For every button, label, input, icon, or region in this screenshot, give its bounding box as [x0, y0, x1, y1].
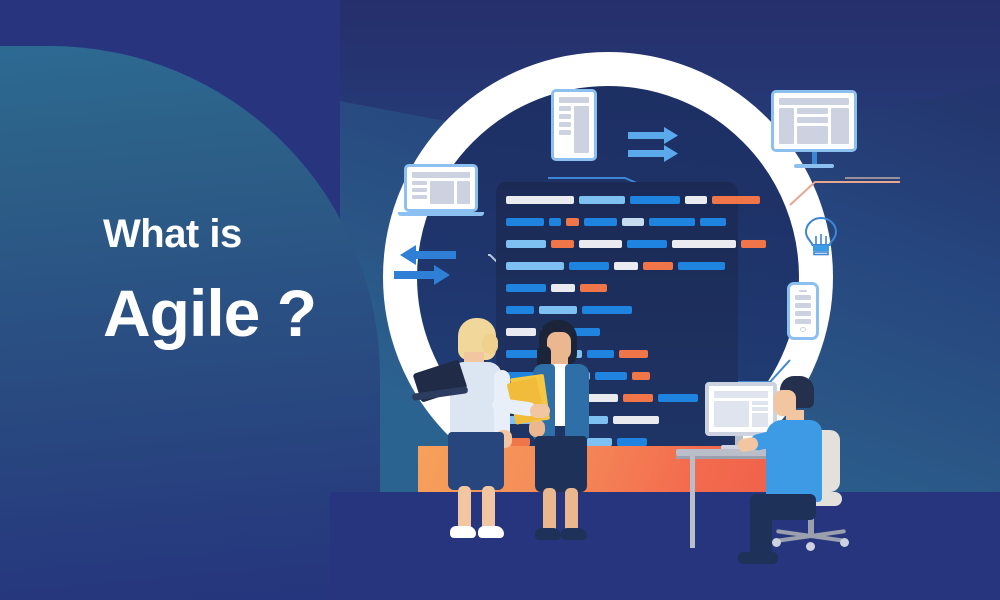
code-token	[506, 262, 564, 270]
code-token	[700, 218, 726, 226]
code-token	[627, 240, 667, 248]
woman2-jacket-r	[565, 364, 589, 440]
reaching-arm	[492, 400, 552, 440]
woman1-skirt	[448, 432, 504, 490]
woman1-shoe-l	[450, 526, 476, 538]
desk-leg	[690, 456, 695, 548]
code-token	[569, 262, 609, 270]
man-at-desk	[744, 376, 839, 566]
code-token	[582, 306, 632, 314]
exchange-arrows-icon	[628, 126, 684, 166]
woman2-skirt	[535, 436, 587, 492]
code-token	[580, 284, 607, 292]
code-line	[506, 284, 607, 292]
code-token	[506, 196, 574, 204]
woman1-bun	[482, 334, 498, 354]
code-token	[549, 218, 561, 226]
stage-floor-navy	[330, 492, 1000, 600]
code-token	[539, 306, 577, 314]
exchange-arrows-left-icon	[394, 244, 456, 290]
code-token	[649, 218, 695, 226]
code-token	[643, 262, 673, 270]
code-token	[741, 240, 766, 248]
code-token	[506, 240, 546, 248]
headline-line-1: What is	[103, 214, 316, 254]
code-token	[658, 394, 698, 402]
smartphone-icon[interactable]	[787, 282, 819, 340]
tablet-icon[interactable]	[551, 89, 597, 161]
code-line	[506, 262, 725, 270]
lightbulb-icon	[803, 215, 839, 264]
code-token	[584, 218, 617, 226]
code-token	[685, 196, 707, 204]
code-line	[506, 196, 760, 204]
code-token	[630, 196, 680, 204]
headline: What is Agile ?	[103, 214, 316, 346]
code-token	[712, 196, 760, 204]
code-token	[672, 240, 736, 248]
desktop-monitor-icon[interactable]	[771, 90, 857, 168]
code-token	[506, 284, 546, 292]
code-line	[506, 306, 632, 314]
woman2-shoe-l	[535, 528, 561, 540]
woman2-shoe-r	[561, 528, 587, 540]
code-line	[506, 240, 766, 248]
woman1-shoe-r	[478, 526, 504, 538]
code-token	[551, 240, 574, 248]
code-token	[506, 218, 544, 226]
code-token	[614, 262, 638, 270]
code-token	[506, 306, 534, 314]
laptop-icon[interactable]	[404, 164, 484, 216]
banner-stage: What is Agile ?	[0, 0, 1000, 600]
code-token	[579, 240, 622, 248]
code-token	[632, 372, 650, 380]
headline-line-2: Agile ?	[103, 280, 316, 346]
code-token	[619, 350, 648, 358]
code-token	[566, 218, 579, 226]
code-token	[678, 262, 725, 270]
code-line	[506, 218, 726, 226]
code-token	[622, 218, 644, 226]
code-token	[613, 416, 659, 424]
code-token	[623, 394, 653, 402]
code-token	[579, 196, 625, 204]
code-token	[617, 438, 647, 446]
man-shoe	[738, 552, 778, 564]
code-token	[551, 284, 575, 292]
